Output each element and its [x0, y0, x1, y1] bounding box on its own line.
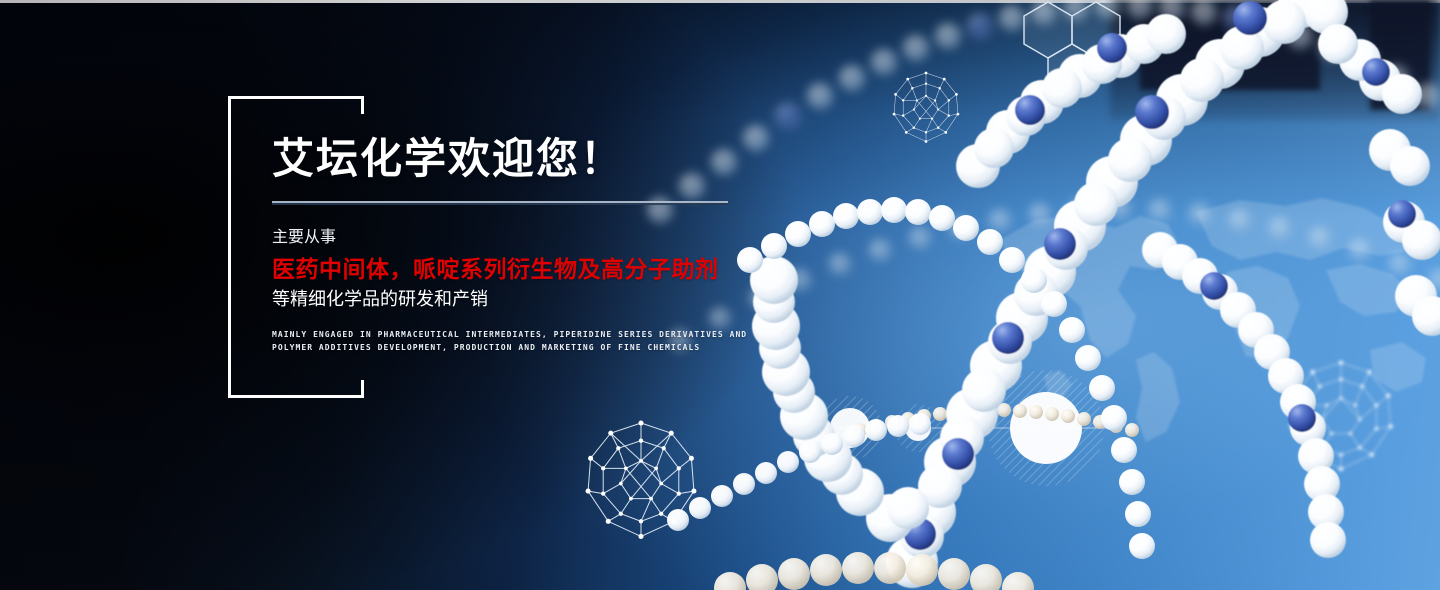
bracket-frame-left [228, 96, 231, 398]
bracket-frame-bottom-right-stub [361, 380, 364, 398]
english-subtitle: MAINLY ENGAGED IN PHARMACEUTICAL INTERME… [272, 328, 742, 354]
sub-text: 等精细化学品的研发和产销 [272, 286, 1012, 312]
highlight-text: 医药中间体，哌啶系列衍生物及高分子助剂 [272, 254, 1012, 284]
english-subtitle-line-2: POLYMER ADDITIVES DEVELOPMENT, PRODUCTIO… [272, 341, 742, 354]
hero-copy: 艾坛化学欢迎您！ 主要从事 医药中间体，哌啶系列衍生物及高分子助剂 等精细化学品… [272, 133, 1012, 354]
hero-banner: 艾坛化学欢迎您！ 主要从事 医药中间体，哌啶系列衍生物及高分子助剂 等精细化学品… [0, 0, 1440, 590]
bracket-frame-top [228, 96, 364, 99]
english-subtitle-line-1: MAINLY ENGAGED IN PHARMACEUTICAL INTERME… [272, 328, 742, 341]
lead-text: 主要从事 [272, 227, 1012, 249]
bracket-frame-top-right-stub [361, 96, 364, 114]
title-divider [272, 201, 728, 205]
page-title: 艾坛化学欢迎您！ [272, 133, 1012, 185]
bracket-frame-bottom [228, 395, 364, 398]
